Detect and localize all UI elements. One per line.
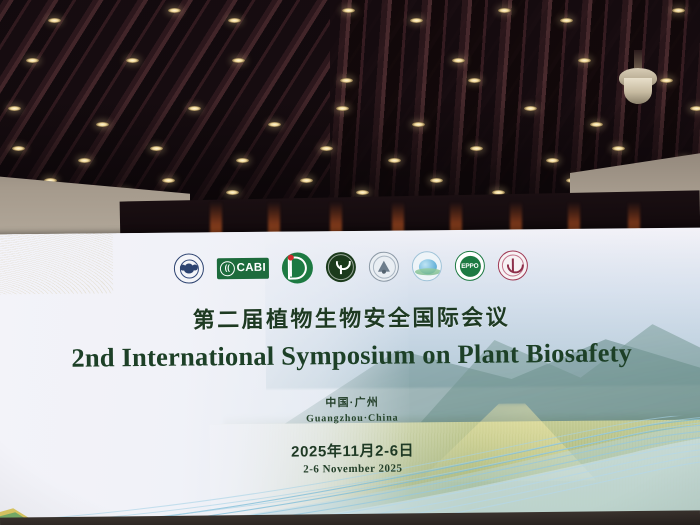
downlight (126, 58, 139, 63)
backdrop-content: (( CABI (0, 228, 700, 525)
mara-logo-petal (184, 264, 194, 274)
dark-green-seal-logo (326, 252, 356, 282)
downlight (232, 58, 245, 63)
downlight (524, 106, 537, 111)
downlight (26, 58, 39, 63)
sponsor-logo-row: (( CABI (174, 247, 528, 286)
downlight (388, 158, 401, 163)
downlight (226, 190, 239, 195)
downlight (336, 106, 349, 111)
downlight (168, 8, 181, 13)
ceiling-speaker (617, 58, 659, 110)
downlight (48, 18, 61, 23)
eppo-logo-label: EPPO (459, 255, 480, 276)
title-english: 2nd International Symposium on Plant Bio… (71, 337, 632, 373)
title-chinese: 第二届植物生物安全国际会议 (193, 299, 510, 334)
downlight (672, 8, 685, 13)
downlight (690, 106, 700, 111)
dark-green-seal-glyph (333, 261, 348, 274)
downlight (320, 146, 333, 151)
maroon-seal-glyph (506, 258, 519, 272)
downlight (340, 78, 353, 83)
location-english: Guangzhou·China (306, 413, 399, 425)
conference-hall-photo: (( CABI (0, 0, 700, 525)
mara-plum-blossom-logo (174, 253, 204, 283)
cabi-logo-mark: (( (220, 261, 235, 276)
maroon-seal-logo (498, 250, 528, 280)
globe-seal-logo (412, 251, 442, 281)
downlight (412, 122, 425, 127)
downlight (78, 158, 91, 163)
cabi-logo: (( CABI (217, 257, 269, 278)
silver-seal-dot (382, 270, 386, 274)
downlight (430, 178, 443, 183)
speaker-dome (624, 78, 652, 104)
mara-logo-ring (179, 259, 198, 278)
downlight (356, 190, 369, 195)
downlight (228, 18, 241, 23)
downlight (612, 146, 625, 151)
stage-backdrop-screen: (( CABI (0, 228, 700, 525)
downlight (498, 8, 511, 13)
ippc-logo-dot (288, 254, 294, 260)
downlight (660, 78, 673, 83)
silver-seal-logo (369, 252, 399, 282)
globe-seal-wave (415, 268, 441, 275)
downlight (150, 146, 163, 151)
ippc-logo (282, 252, 313, 283)
downlight (342, 8, 355, 13)
date-english: 2-6 November 2025 (303, 463, 402, 476)
downlight (560, 18, 573, 23)
eppo-logo: EPPO (455, 251, 485, 281)
date-chinese: 2025年11月2-6日 (291, 439, 414, 461)
downlight (468, 78, 481, 83)
downlight (452, 58, 465, 63)
downlight (470, 146, 483, 151)
downlight (590, 122, 603, 127)
downlight (162, 178, 175, 183)
downlight (578, 58, 591, 63)
downlight (8, 106, 21, 111)
cabi-logo-label: CABI (237, 262, 266, 274)
downlight (12, 146, 25, 151)
location-chinese: 中国·广州 (325, 394, 379, 411)
speaker-stem (634, 50, 642, 68)
downlight (268, 122, 281, 127)
downlight (188, 106, 201, 111)
downlight (546, 158, 559, 163)
downlight (300, 178, 313, 183)
downlight (96, 122, 109, 127)
downlight (410, 18, 423, 23)
ippc-logo-stem (290, 259, 293, 276)
downlight (236, 158, 249, 163)
